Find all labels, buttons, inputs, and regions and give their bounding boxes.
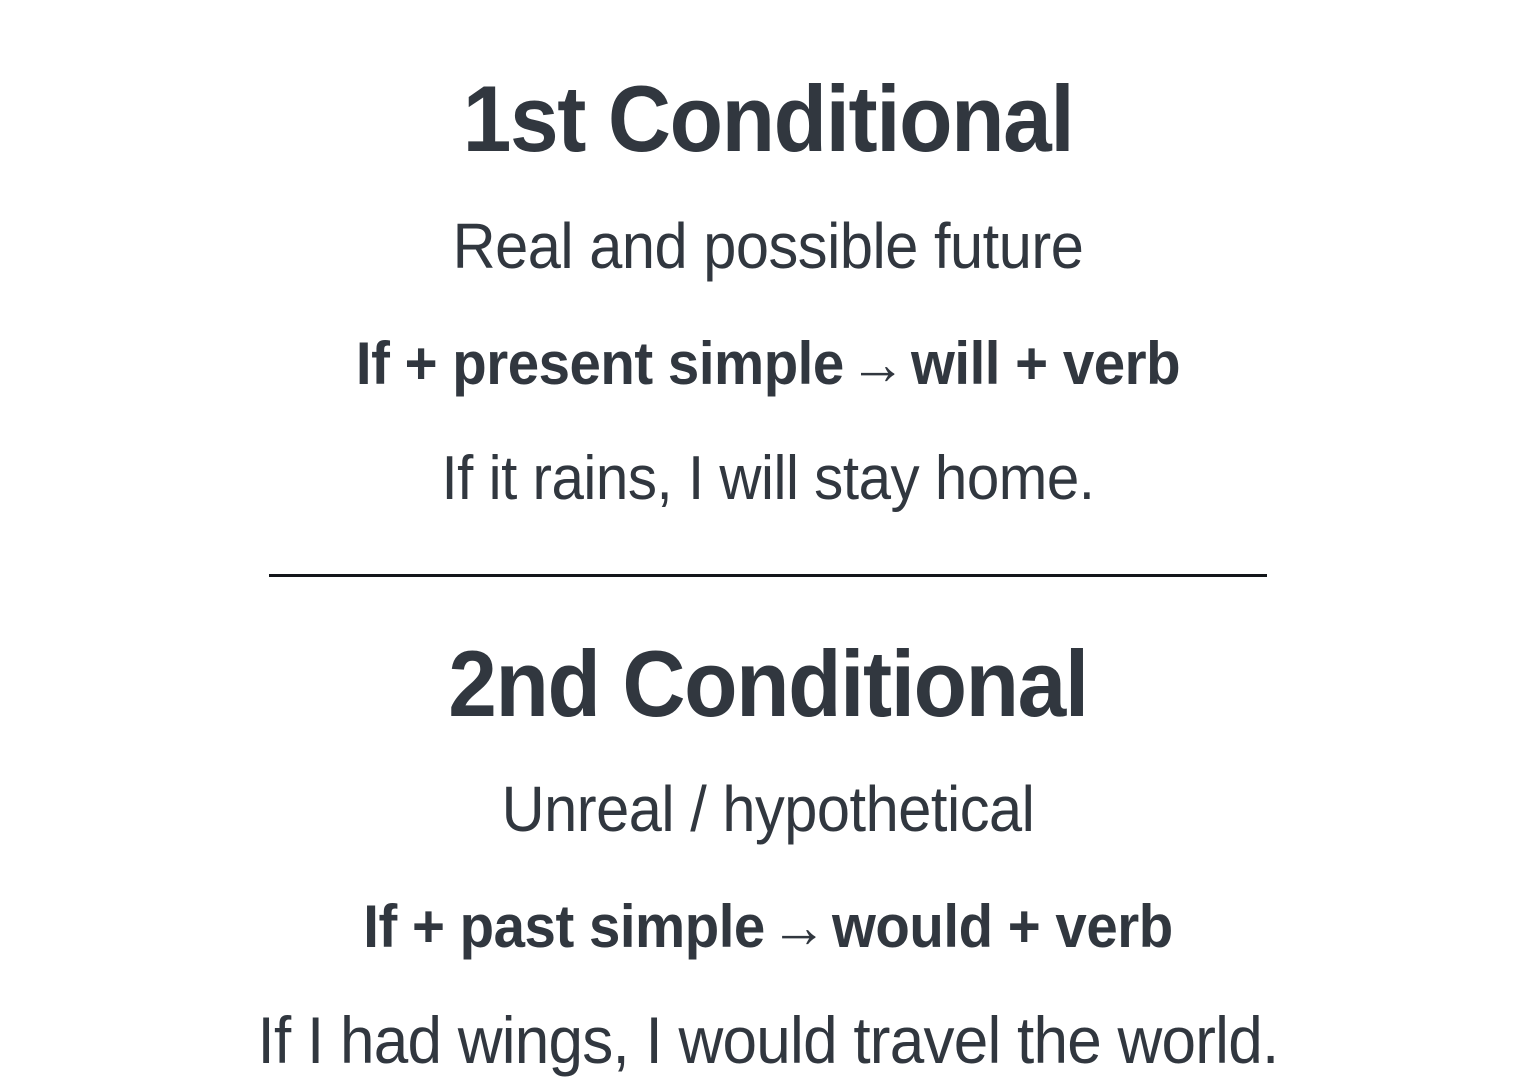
- formula-right-first: will + verb: [911, 330, 1180, 397]
- formula-right-second: would + verb: [832, 893, 1173, 960]
- section-example-first-conditional: If it rains, I will stay home.: [46, 448, 1490, 510]
- section-example-second-conditional: If I had wings, I would travel the world…: [46, 1007, 1490, 1073]
- formula-left-second: If + past simple: [363, 893, 765, 960]
- section-subtitle-first-conditional: Real and possible future: [54, 214, 1482, 278]
- conditionals-reference-card: 1st Conditional Real and possible future…: [0, 0, 1536, 1024]
- section-title-first-conditional: 1st Conditional: [54, 72, 1482, 166]
- section-formula-first-conditional: If + present simple→will + verb: [46, 334, 1490, 394]
- section-subtitle-second-conditional: Unreal / hypothetical: [54, 777, 1482, 841]
- section-title-second-conditional: 2nd Conditional: [54, 637, 1482, 731]
- formula-left-first: If + present simple: [356, 330, 844, 397]
- section-second-conditional: 2nd Conditional Unreal / hypothetical If…: [0, 577, 1536, 1073]
- section-formula-second-conditional: If + past simple→would + verb: [46, 897, 1490, 957]
- right-arrow-icon: →: [844, 330, 911, 397]
- right-arrow-icon: →: [765, 893, 832, 960]
- section-first-conditional: 1st Conditional Real and possible future…: [0, 0, 1536, 510]
